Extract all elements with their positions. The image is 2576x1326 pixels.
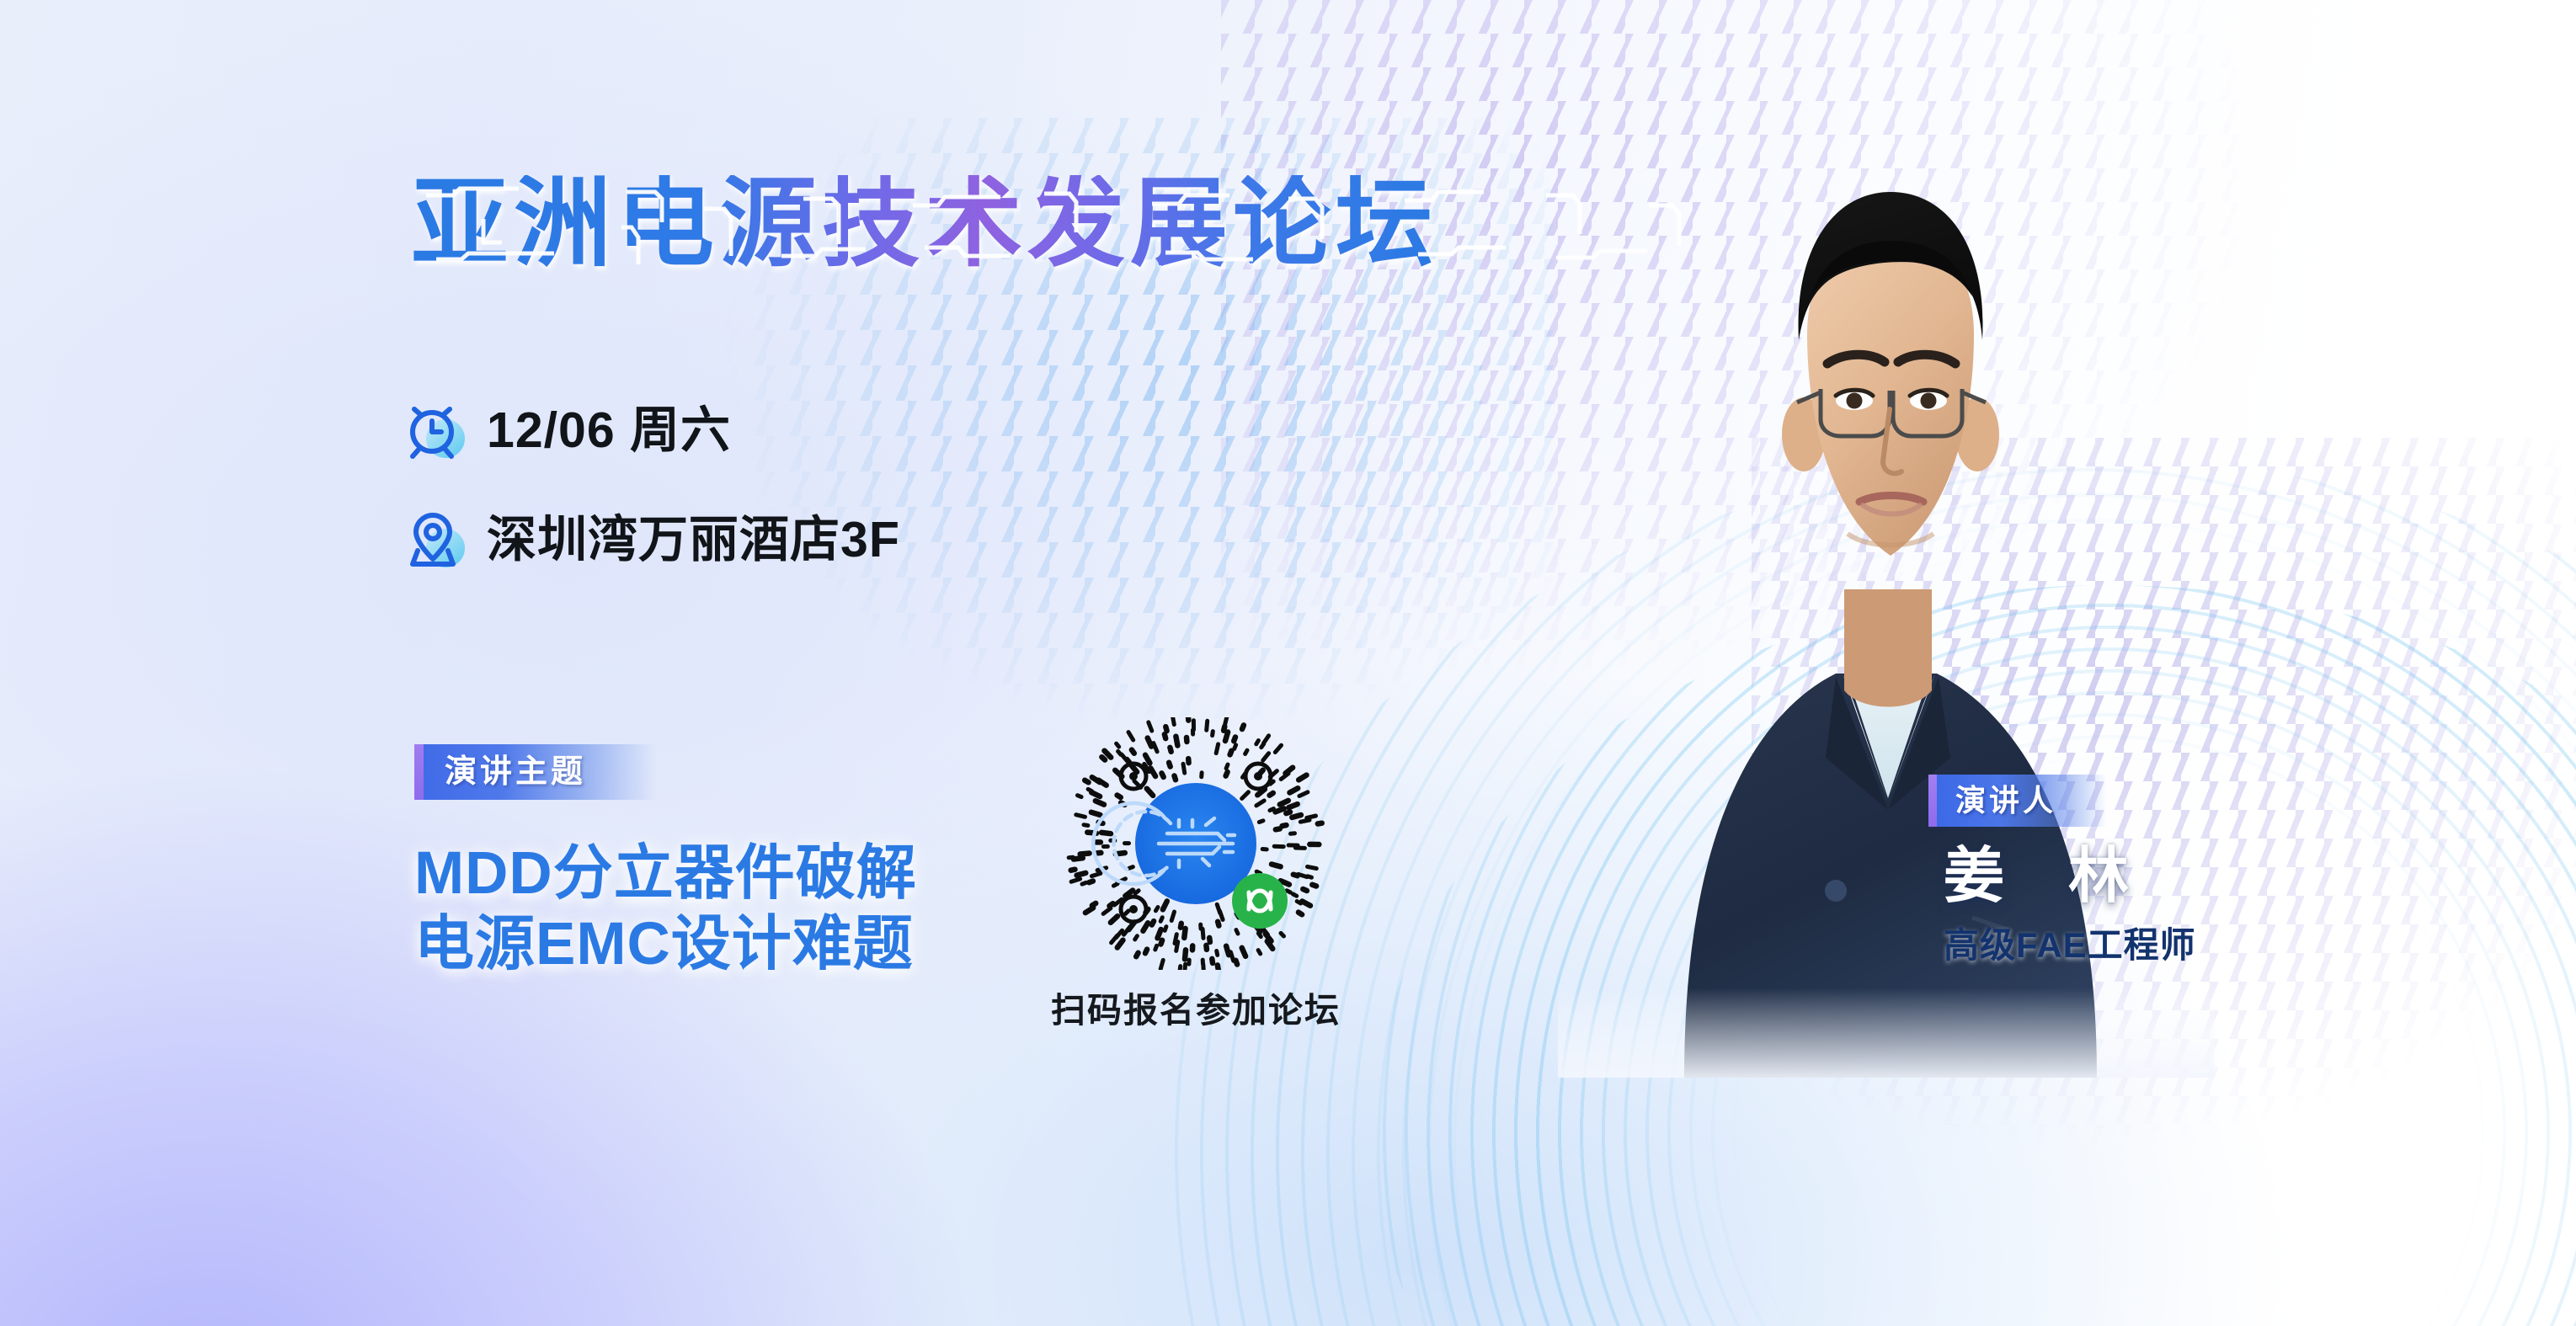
event-location-row: 深圳湾万丽酒店3F xyxy=(401,507,900,572)
topic-line-2: 电源EMC设计难题 xyxy=(414,909,917,980)
speaker-section: 演讲人 姜 林 高级FAE工程师 xyxy=(1928,775,2333,968)
event-location-text: 深圳湾万丽酒店3F xyxy=(487,515,900,565)
wechat-miniprogram-icon xyxy=(1232,873,1288,929)
topic-section: 演讲主题 MDD分立器件破解 电源EMC设计难题 xyxy=(414,744,917,980)
topic-lines: MDD分立器件破解 电源EMC设计难题 xyxy=(414,839,917,980)
alarm-clock-icon xyxy=(401,397,467,463)
svg-text:亚洲电源技术发展论坛: 亚洲电源技术发展论坛 xyxy=(411,175,1438,276)
banner-title-art: 亚洲电源技术发展论坛 xyxy=(411,175,1725,276)
speaker-badge: 演讲人 xyxy=(1928,775,2107,827)
qr-caption: 扫码报名参加论坛 xyxy=(1048,982,1343,1032)
speaker-job-title: 高级FAE工程师 xyxy=(1944,917,2333,968)
event-date-text: 12/06 周六 xyxy=(487,406,731,455)
qr-section[interactable]: 扫码报名参加论坛 xyxy=(1048,717,1343,1032)
wechat-miniprogram-qr-code[interactable] xyxy=(1053,717,1339,970)
speaker-name: 姜 林 xyxy=(1944,844,2333,910)
event-date-row: 12/06 周六 xyxy=(401,397,731,463)
qr-code[interactable] xyxy=(1053,717,1339,970)
banner-title: 亚洲电源技术发展论坛 xyxy=(411,175,1725,276)
map-pin-icon xyxy=(401,507,467,572)
topic-line-1: MDD分立器件破解 xyxy=(414,839,917,909)
forum-banner: 亚洲电源技术发展论坛 xyxy=(0,0,2576,1326)
topic-badge: 演讲主题 xyxy=(414,744,657,800)
